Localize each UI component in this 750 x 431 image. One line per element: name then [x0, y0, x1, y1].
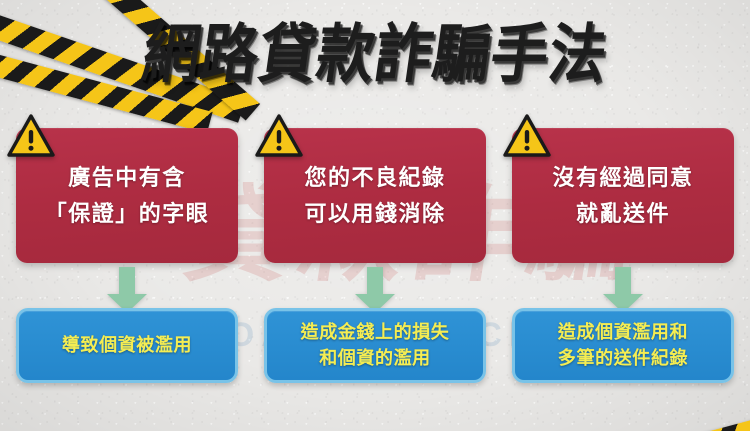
scam-column-3: 沒有經過同意 就亂送件 造成個資濫用和 多筆的送件紀錄 [512, 128, 734, 394]
scam-tactic-line: 「保證」的字眼 [45, 196, 210, 232]
scam-column-1: 廣告中有含 「保證」的字眼 導致個資被濫用 [16, 128, 238, 394]
scam-consequence-line: 多筆的送件紀錄 [558, 346, 688, 372]
warning-triangle-icon [255, 114, 303, 158]
scam-consequence-card-1: 導致個資被濫用 [16, 308, 238, 383]
scam-column-2: 您的不良紀錄 可以用錢消除 造成金錢上的損失 和個資的濫用 [264, 128, 486, 394]
scam-tactic-line: 沒有經過同意 [552, 160, 693, 196]
scam-tactic-line: 就亂送件 [576, 196, 670, 232]
scam-consequence-line: 和個資的濫用 [301, 346, 450, 372]
infographic-poster: 貸款詐騙 LOAN SERVICE 網路貸款詐騙手法 廣告中有含 「保證」的字眼 [0, 0, 750, 431]
scam-tactic-line: 可以用錢消除 [304, 196, 445, 232]
scam-consequence-line: 導致個資被濫用 [62, 333, 192, 359]
down-arrow-icon [104, 267, 150, 314]
scam-consequence-line: 造成金錢上的損失 [301, 320, 450, 346]
warning-triangle-icon [7, 114, 55, 158]
title-container: 網路貸款詐騙手法 [0, 26, 750, 86]
scam-tactic-line: 廣告中有含 [68, 160, 186, 196]
scam-consequence-card-3: 造成個資濫用和 多筆的送件紀錄 [512, 308, 734, 383]
down-arrow-icon [600, 267, 646, 314]
down-arrow-icon [352, 267, 398, 314]
columns-container: 廣告中有含 「保證」的字眼 導致個資被濫用 您的不良紀錄 可以用錢消除 [0, 128, 750, 394]
page-title: 網路貸款詐騙手法 [138, 22, 611, 89]
hazard-tape-bottom-right-1 [527, 402, 750, 431]
scam-consequence-card-2: 造成金錢上的損失 和個資的濫用 [264, 308, 486, 383]
scam-tactic-line: 您的不良紀錄 [304, 160, 445, 196]
warning-triangle-icon [503, 114, 551, 158]
scam-consequence-line: 造成個資濫用和 [558, 320, 688, 346]
